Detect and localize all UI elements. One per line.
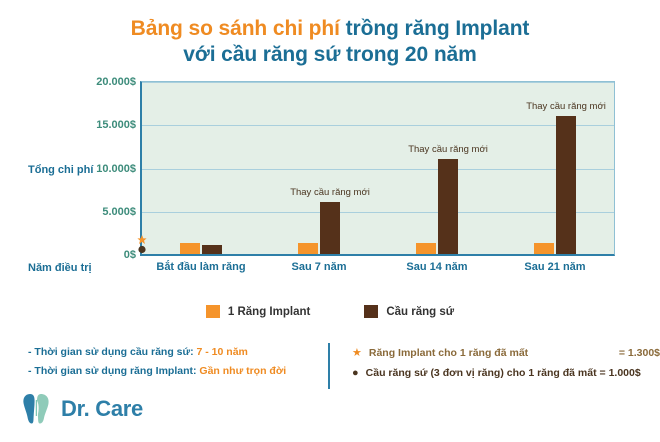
- bar[interactable]: Thay cầu răng mới: [556, 116, 576, 254]
- bar[interactable]: [534, 243, 554, 254]
- title-line-1: Bảng so sánh chi phí trồng răng Implant: [0, 16, 660, 42]
- x-axis-title: Năm điều trị: [28, 262, 92, 274]
- title-part-blue: trồng răng Implant: [346, 17, 530, 40]
- x-axis-tick-label: Sau 21 năm: [524, 261, 585, 273]
- tooth-leaf-logo-icon: [22, 392, 52, 426]
- y-axis-tick-label: 0$: [124, 249, 136, 261]
- y-axis-tick-label: 15.000$: [96, 119, 136, 131]
- bars-layer: Bắt đầu làm răngThay cầu răng mớiSau 7 n…: [142, 81, 614, 254]
- title-part-orange: Bảng so sánh chi phí: [131, 17, 340, 40]
- price-note-text: Cầu răng sứ (3 đơn vị răng) cho 1 răng đ…: [366, 364, 641, 383]
- chart-container: Tổng chi phí Năm điều trị 0$5.000$10.000…: [0, 76, 660, 296]
- bar-annotation-label: Thay cầu răng mới: [290, 187, 370, 198]
- note-prefix: - Thời gian sử dụng cầu răng sứ:: [28, 346, 197, 358]
- bar[interactable]: [180, 243, 200, 254]
- bar-annotation-label: Thay cầu răng mới: [408, 144, 488, 155]
- star-icon: ★: [352, 343, 362, 363]
- bar-group: Thay cầu răng mớiSau 7 năm: [260, 81, 378, 254]
- y-axis-tick-label: 5.000$: [102, 206, 136, 218]
- chart-legend: 1 Răng ImplantCầu răng sứ: [0, 305, 660, 318]
- y-axis-title: Tổng chi phí: [28, 164, 93, 176]
- legend-swatch-implant: [206, 305, 220, 318]
- note-highlight: 7 - 10 năm: [197, 346, 248, 358]
- bar-annotation-label: Thay cầu răng mới: [526, 101, 606, 112]
- logo-text: Dr. Care: [61, 396, 143, 422]
- title-line-2: với cầu răng sứ trong 20 năm: [0, 42, 660, 68]
- bar[interactable]: Thay cầu răng mới: [438, 159, 458, 254]
- legend-item[interactable]: 1 Răng Implant: [206, 305, 310, 318]
- footer-notes: - Thời gian sử dụng cầu răng sứ: 7 - 10 …: [0, 343, 660, 389]
- legend-item-label: Cầu răng sứ: [386, 306, 454, 318]
- page-title: Bảng so sánh chi phí trồng răng Implant …: [0, 0, 660, 68]
- legend-item[interactable]: Cầu răng sứ: [364, 305, 454, 318]
- legend-item-label: 1 Răng Implant: [228, 306, 310, 318]
- price-note-line: ●Cầu răng sứ (3 đơn vị răng) cho 1 răng …: [352, 363, 660, 383]
- note-line: - Thời gian sử dụng cầu răng sứ: 7 - 10 …: [28, 343, 328, 362]
- bar[interactable]: [202, 245, 222, 254]
- plot-area: 0$5.000$10.000$15.000$20.000$ Bắt đầu là…: [140, 81, 615, 256]
- price-note-text: Răng Implant cho 1 răng đã mất: [369, 344, 528, 363]
- circle-icon: ●: [352, 363, 359, 383]
- note-highlight: Gần như trọn đời: [199, 365, 286, 377]
- note-line: - Thời gian sử dụng răng Implant: Gần nh…: [28, 362, 328, 381]
- x-axis-tick-label: Bắt đầu làm răng: [156, 261, 245, 273]
- origin-marker-icon: [137, 234, 147, 258]
- notes-right-column: ★Răng Implant cho 1 răng đã mất= 1.300$●…: [330, 343, 660, 389]
- price-note-value: = 1.300$: [609, 344, 660, 363]
- x-axis-tick-label: Sau 14 năm: [406, 261, 467, 273]
- bar[interactable]: [416, 243, 436, 254]
- bar[interactable]: [298, 243, 318, 254]
- x-axis-tick-label: Sau 7 năm: [291, 261, 346, 273]
- bar[interactable]: Thay cầu răng mới: [320, 202, 340, 254]
- price-note-line: ★Răng Implant cho 1 răng đã mất= 1.300$: [352, 343, 660, 363]
- bar-group: Thay cầu răng mớiSau 21 năm: [496, 81, 614, 254]
- bar-group: Bắt đầu làm răng: [142, 81, 260, 254]
- notes-left-column: - Thời gian sử dụng cầu răng sứ: 7 - 10 …: [0, 343, 330, 389]
- legend-swatch-bridge: [364, 305, 378, 318]
- y-axis-tick-label: 10.000$: [96, 163, 136, 175]
- brand-logo[interactable]: Dr. Care: [22, 392, 143, 426]
- bar-group: Thay cầu răng mớiSau 14 năm: [378, 81, 496, 254]
- y-axis-tick-label: 20.000$: [96, 76, 136, 88]
- note-prefix: - Thời gian sử dụng răng Implant:: [28, 365, 199, 377]
